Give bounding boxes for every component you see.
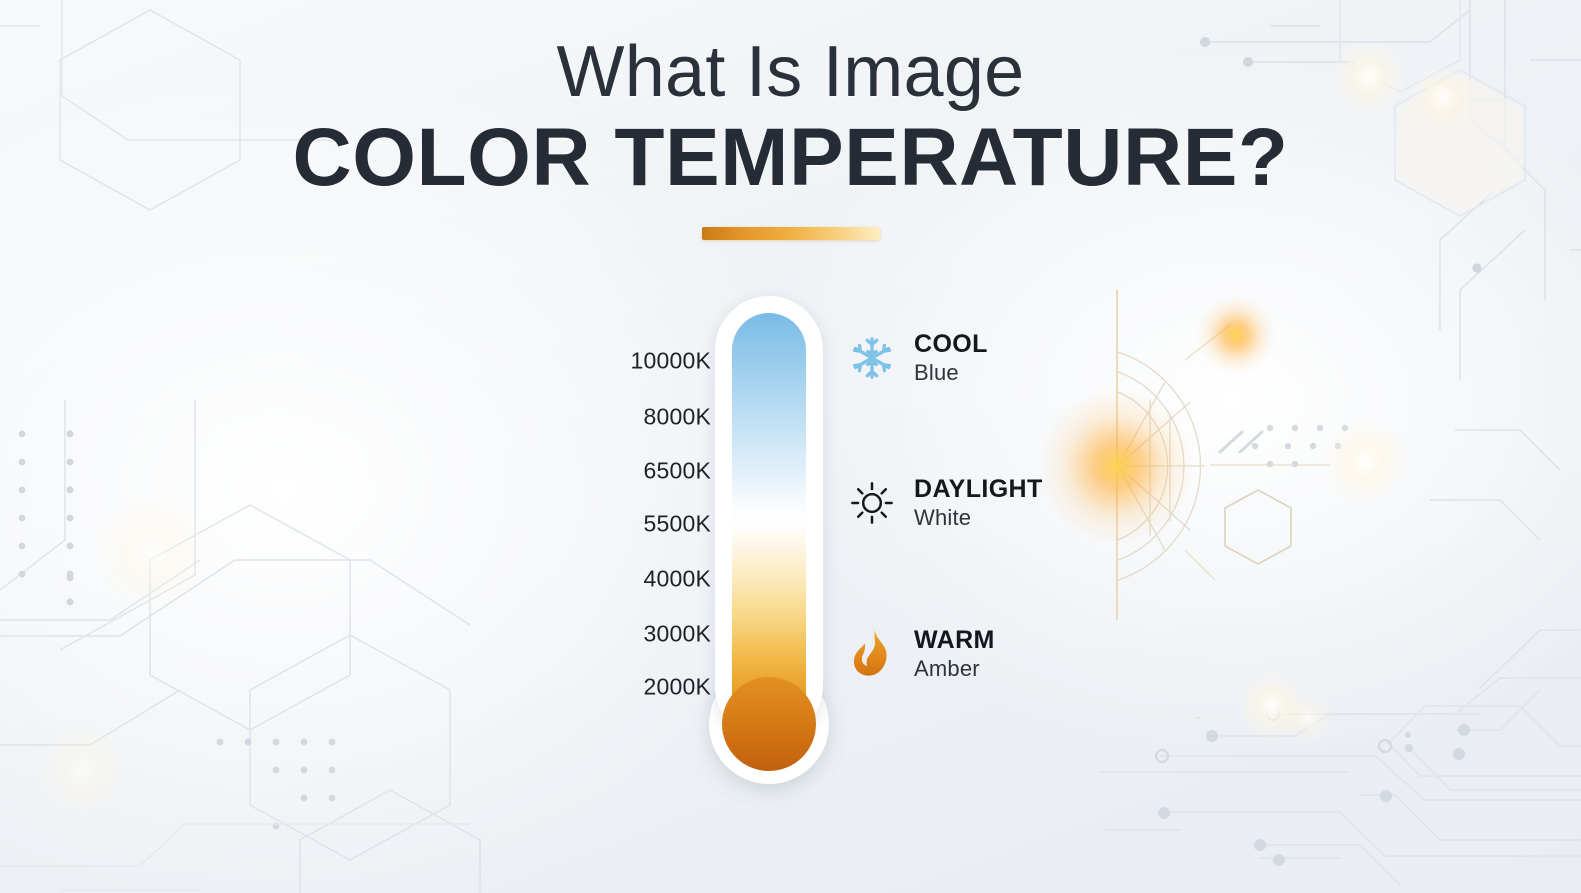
legend-subtitle-warm: Amber	[914, 656, 995, 682]
sun-icon	[848, 479, 896, 527]
scale-label-8000k: 8000K	[643, 404, 711, 431]
thermometer-bulb	[722, 677, 816, 771]
legend-subtitle-daylight: White	[914, 505, 1043, 531]
legend-title-warm: WARM	[914, 626, 995, 655]
legend-text-warm: WARM Amber	[914, 626, 995, 682]
scale-label-5500k: 5500K	[643, 511, 711, 538]
page-title-line2: COLOR TEMPERATURE?	[0, 114, 1581, 203]
thermometer-tube-gradient	[732, 313, 806, 733]
legend-text-daylight: DAYLIGHT White	[914, 475, 1043, 531]
legend-item-daylight: DAYLIGHT White	[848, 475, 1043, 531]
legend-item-warm: WARM Amber	[848, 626, 995, 682]
scale-label-3000k: 3000K	[643, 621, 711, 648]
legend-text-cool: COOL Blue	[914, 330, 988, 386]
scale-label-6500k: 6500K	[643, 458, 711, 485]
scale-label-2000k: 2000K	[643, 674, 711, 701]
thermometer	[715, 296, 843, 836]
legend-title-cool: COOL	[914, 330, 988, 359]
accent-bar	[702, 227, 880, 240]
scale-label-4000k: 4000K	[643, 566, 711, 593]
scale-label-10000k: 10000K	[631, 348, 712, 375]
legend-item-cool: COOL Blue	[848, 330, 988, 386]
page-title-line1: What Is Image	[0, 34, 1581, 110]
flame-icon	[848, 630, 896, 678]
infographic-canvas: What Is Image COLOR TEMPERATURE? 10000K …	[0, 0, 1581, 893]
snowflake-icon	[848, 334, 896, 382]
legend-subtitle-cool: Blue	[914, 360, 988, 386]
legend-title-daylight: DAYLIGHT	[914, 475, 1043, 504]
header: What Is Image COLOR TEMPERATURE?	[0, 34, 1581, 240]
